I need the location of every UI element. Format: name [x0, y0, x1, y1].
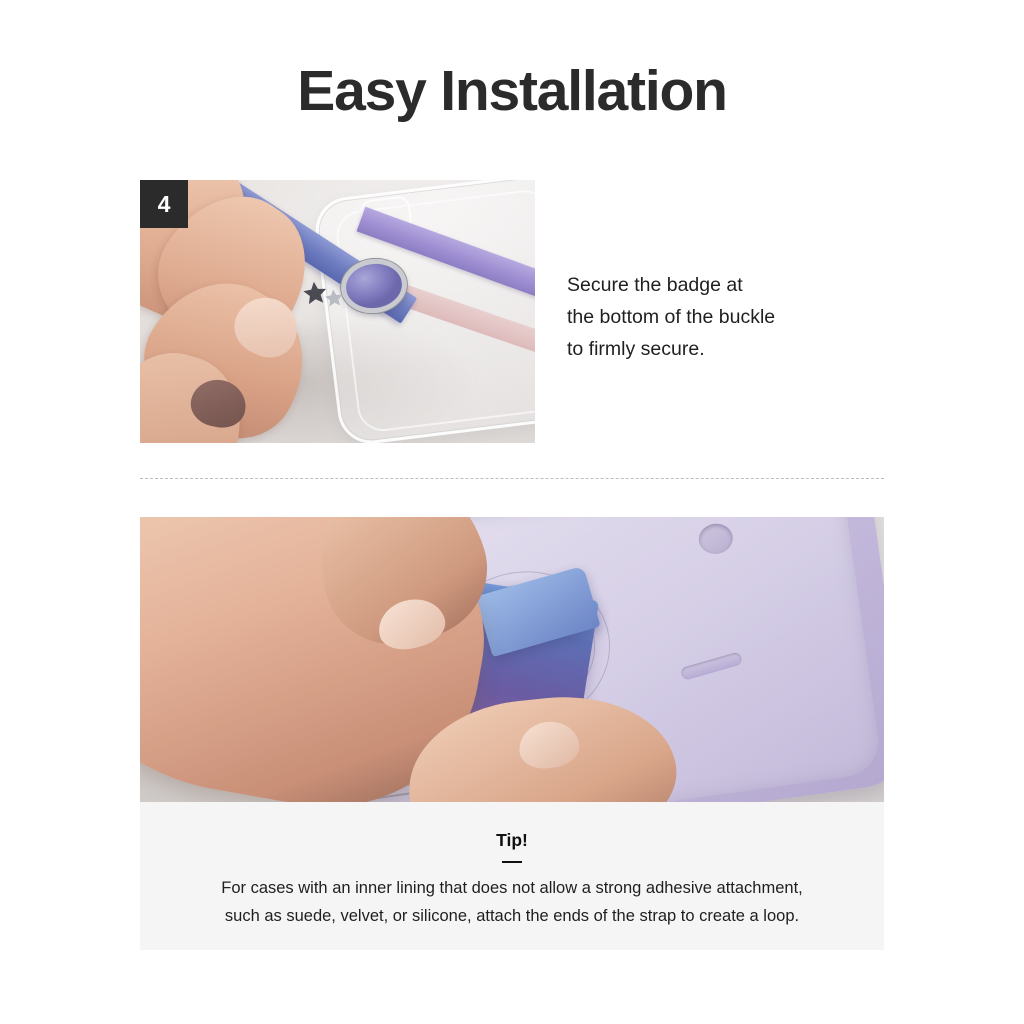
step-number-badge: 4: [140, 180, 188, 228]
instruction-line-3: to firmly secure.: [567, 334, 867, 366]
star-badge-icon-secondary: [323, 287, 345, 309]
installation-guide-page: Easy Installation 4: [0, 0, 1024, 1024]
tip-body-text: For cases with an inner lining that does…: [170, 874, 854, 931]
instruction-line-1: Secure the badge at: [567, 270, 867, 302]
tip-panel: Tip! For cases with an inner lining that…: [140, 802, 884, 950]
tip-line-1: For cases with an inner lining that does…: [170, 874, 854, 902]
tip-line-2: such as suede, velvet, or silicone, atta…: [170, 902, 854, 930]
tip-underline-rule: [502, 861, 522, 863]
step-4-illustration: [140, 180, 535, 443]
detail-photo: [140, 517, 884, 802]
instruction-line-2: the bottom of the buckle: [567, 302, 867, 334]
step-4-photo: 4: [140, 180, 535, 443]
step-instruction-text: Secure the badge at the bottom of the bu…: [567, 270, 867, 365]
page-title: Easy Installation: [0, 62, 1024, 122]
tip-heading: Tip!: [140, 830, 884, 851]
section-divider: [140, 478, 884, 479]
